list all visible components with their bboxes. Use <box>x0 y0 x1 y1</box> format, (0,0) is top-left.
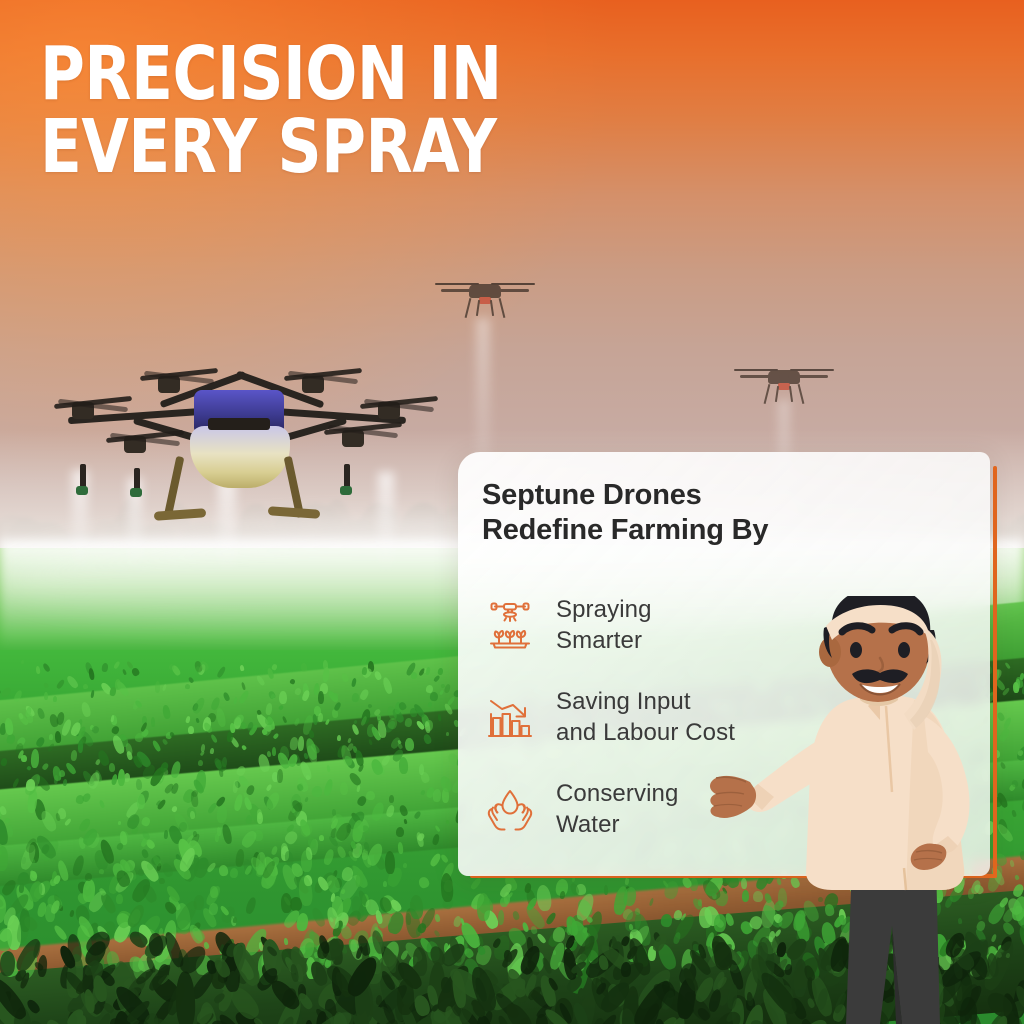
list-item-label: Spraying Smarter <box>556 595 652 656</box>
drone-leg <box>490 300 494 316</box>
feature-3-line-2: Water <box>556 810 678 841</box>
drone-foot <box>268 506 321 519</box>
drone-leg <box>798 384 805 404</box>
drone-arm <box>441 289 481 292</box>
drone-leg <box>775 386 779 402</box>
drone-leg <box>499 298 506 318</box>
drone-leg <box>465 298 472 318</box>
drone-propeller <box>511 283 535 285</box>
drone-nozzle-tip <box>76 486 88 495</box>
drone-nozzle-tip <box>130 488 142 497</box>
feature-1-line-1: Spraying <box>556 595 652 626</box>
feature-1-line-2: Smarter <box>556 626 652 657</box>
list-item-label: Conserving Water <box>556 779 678 840</box>
headline-line-1: PRECISION IN <box>40 38 555 111</box>
hands-holding-water-drop-icon <box>482 782 538 838</box>
drone-foot <box>154 508 207 521</box>
drone-arm <box>788 375 828 378</box>
farmer-illustration <box>700 596 1024 1024</box>
headline-line-2: EVERY SPRAY <box>40 111 555 184</box>
drone-propeller <box>756 369 778 371</box>
drone-leg <box>764 384 771 404</box>
drone-arm <box>489 289 529 292</box>
drone-propeller <box>491 283 513 285</box>
drone-propeller <box>435 283 459 285</box>
background-drone-2 <box>738 356 830 406</box>
card-heading-line-1: Septune Drones <box>482 478 922 513</box>
hexacopter-drone <box>62 368 402 533</box>
drone-propeller <box>810 369 834 371</box>
drone-propeller <box>790 369 812 371</box>
card-heading: Septune Drones Redefine Farming By <box>482 478 922 549</box>
drone-leg <box>164 456 185 518</box>
drone-spraying-crops-icon <box>482 598 538 654</box>
card-heading-line-2: Redefine Farming By <box>482 513 922 548</box>
drone-propeller <box>457 283 479 285</box>
drone-frame <box>208 418 270 430</box>
drone-nozzle-tip <box>340 486 352 495</box>
background-drone-1 <box>432 270 538 328</box>
promo-poster: PRECISION IN EVERY SPRAY Septune Drones … <box>0 0 1024 1024</box>
drone-leg <box>789 386 793 402</box>
declining-bar-chart-icon <box>482 690 538 746</box>
drone-propeller <box>734 369 758 371</box>
drone-arm <box>740 375 780 378</box>
page-title: PRECISION IN EVERY SPRAY <box>40 38 555 183</box>
drone-leg <box>476 300 480 316</box>
feature-3-line-1: Conserving <box>556 779 678 810</box>
drone-spray-tank <box>190 426 290 488</box>
